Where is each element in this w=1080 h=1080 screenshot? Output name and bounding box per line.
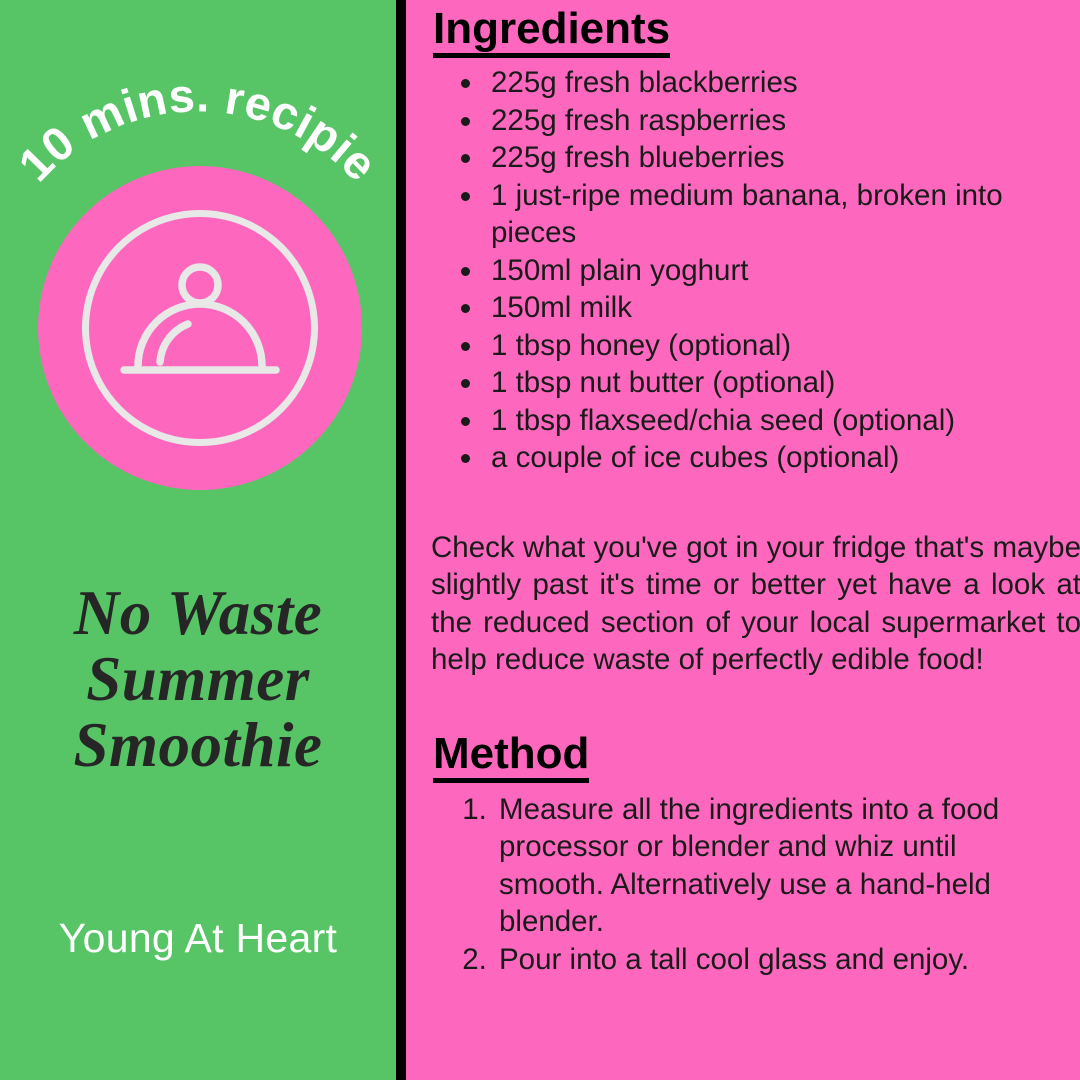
method-block: Method Measure all the ingredients into … <box>423 731 1066 979</box>
method-heading: Method <box>433 731 589 783</box>
cloche-icon <box>116 258 284 398</box>
recipe-card: 10 mins. recipie No Waste S <box>0 0 1080 1080</box>
ingredients-list: 225g fresh blackberries225g fresh raspbe… <box>485 64 1066 477</box>
page-title: No Waste Summer Smoothie <box>0 580 396 778</box>
method-step: Pour into a tall cool glass and enjoy. <box>495 941 1025 979</box>
ingredient-item: 225g fresh blackberries <box>485 64 1066 102</box>
method-step: Measure all the ingredients into a food … <box>495 791 1025 941</box>
left-green-panel: 10 mins. recipie No Waste S <box>0 0 396 1080</box>
ingredient-item: 1 tbsp honey (optional) <box>485 327 1066 365</box>
ingredient-item: 225g fresh blueberries <box>485 139 1066 177</box>
ingredient-item: a couple of ice cubes (optional) <box>485 439 1066 477</box>
ingredient-item: 1 tbsp flaxseed/chia seed (optional) <box>485 402 1066 440</box>
ingredient-item: 1 just-ripe medium banana, broken into p… <box>485 177 1066 252</box>
ingredient-item: 150ml plain yoghurt <box>485 252 1066 290</box>
title-line-2: Summer <box>0 646 396 712</box>
right-pink-panel: Ingredients 225g fresh blackberries225g … <box>406 0 1080 1080</box>
panel-divider <box>396 0 406 1080</box>
ingredient-item: 225g fresh raspberries <box>485 102 1066 140</box>
badge-circle <box>38 166 362 490</box>
ingredient-item: 150ml milk <box>485 289 1066 327</box>
ingredients-heading: Ingredients <box>433 6 670 58</box>
ingredient-item: 1 tbsp nut butter (optional) <box>485 364 1066 402</box>
title-line-1: No Waste <box>0 580 396 646</box>
title-line-3: Smoothie <box>0 712 396 778</box>
brand-name: Young At Heart <box>0 915 396 962</box>
method-list: Measure all the ingredients into a food … <box>495 791 1066 979</box>
intro-paragraph: Check what you've got in your fridge tha… <box>431 529 1080 679</box>
